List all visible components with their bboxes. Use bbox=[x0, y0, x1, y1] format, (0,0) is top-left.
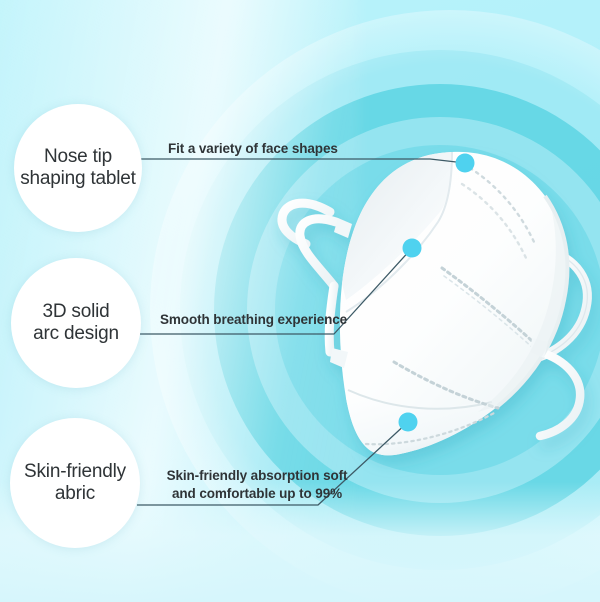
feature-caption-3d-solid-arc-design: Smooth breathing experience bbox=[160, 311, 347, 329]
feature-bubble-3d-solid-arc-design: 3D solid arc design bbox=[11, 258, 141, 388]
mask-feature-infographic: Nose tip shaping tablet 3D solid arc des… bbox=[0, 0, 600, 602]
feature-bubble-nose-tip-shaping-tablet: Nose tip shaping tablet bbox=[14, 104, 142, 232]
feature-caption-skin-friendly-fabric: Skin-friendly absorption soft and comfor… bbox=[152, 467, 362, 503]
feature-bubble-label: 3D solid arc design bbox=[27, 301, 125, 346]
feature-bubble-label: Skin-friendly abric bbox=[18, 461, 132, 506]
feature-bubble-skin-friendly-fabric: Skin-friendly abric bbox=[10, 418, 140, 548]
feature-bubble-label: Nose tip shaping tablet bbox=[14, 146, 142, 191]
feature-caption-nose-tip-shaping-tablet: Fit a variety of face shapes bbox=[168, 140, 338, 158]
